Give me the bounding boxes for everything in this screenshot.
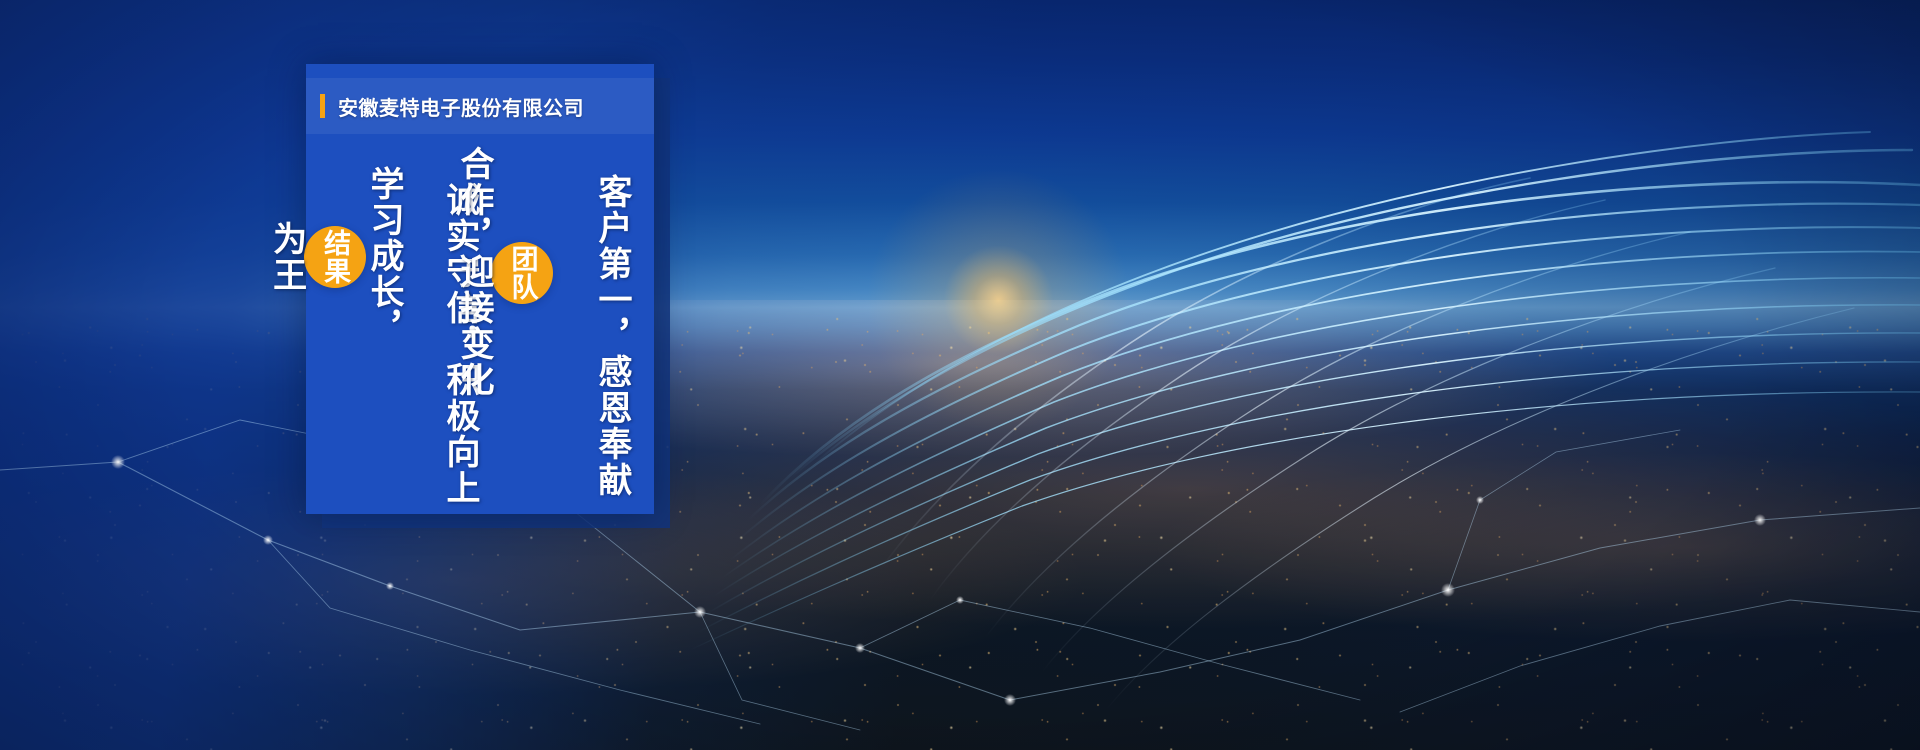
value-text: 客户第一，感恩奉献	[594, 174, 629, 498]
company-name: 安徽麦特电子股份有限公司	[338, 92, 584, 121]
value-column-learning-growth: 学习成长， 结果 为王	[331, 166, 401, 348]
value-text: 合作，迎接变化	[456, 146, 491, 398]
accent-bar-icon	[320, 94, 325, 118]
values-columns: 客户第一，感恩奉献 团队 合作，迎接变化 诚实守信，积极向上 学习成长， 结果 …	[306, 148, 654, 514]
value-column-teamwork: 团队 合作，迎接变化	[483, 148, 553, 398]
culture-panel: 安徽麦特电子股份有限公司 客户第一，感恩奉献 团队 合作，迎接变化 诚实守信，积…	[306, 64, 654, 514]
banner-stage: 安徽麦特电子股份有限公司 客户第一，感恩奉献 团队 合作，迎接变化 诚实守信，积…	[0, 0, 1920, 750]
value-text: 学习成长，	[366, 166, 401, 346]
value-badge-result: 结果	[304, 226, 366, 288]
value-column-customer-first: 客户第一，感恩奉献	[559, 174, 629, 498]
value-badge-teamwork: 团队	[491, 242, 553, 304]
value-text: 为王	[268, 221, 303, 293]
background-vignette	[0, 0, 1920, 750]
panel-header: 安徽麦特电子股份有限公司	[306, 78, 654, 134]
